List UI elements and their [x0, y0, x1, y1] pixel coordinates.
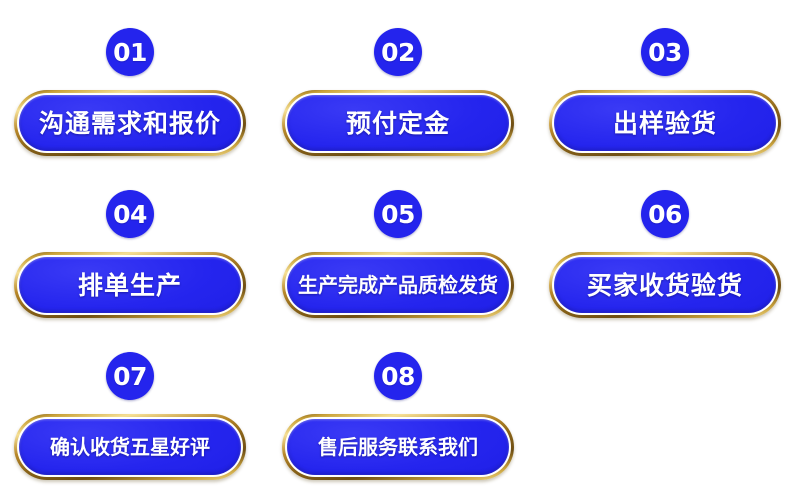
step-item-01[interactable]: 01 沟通需求和报价 — [14, 28, 246, 168]
step-pill-frame-05[interactable]: 生产完成产品质检发货 — [282, 252, 514, 318]
step-pill-frame-07[interactable]: 确认收货五星好评 — [14, 414, 246, 480]
step-number-badge-03: 03 — [641, 28, 689, 76]
step-pill-gap: 买家收货验货 — [552, 255, 778, 315]
step-number-badge-04: 04 — [106, 190, 154, 238]
step-item-07[interactable]: 07 确认收货五星好评 — [14, 352, 246, 492]
step-number-badge-07: 07 — [106, 352, 154, 400]
step-label-04: 排单生产 — [78, 273, 182, 298]
step-label-01: 沟通需求和报价 — [39, 111, 221, 136]
step-number-text: 01 — [113, 40, 147, 65]
step-pill-frame-06[interactable]: 买家收货验货 — [549, 252, 781, 318]
step-pill-02[interactable]: 预付定金 — [287, 95, 509, 151]
step-pill-06[interactable]: 买家收货验货 — [554, 257, 776, 313]
step-pill-gap: 出样验货 — [552, 93, 778, 153]
step-pill-frame-04[interactable]: 排单生产 — [14, 252, 246, 318]
step-pill-01[interactable]: 沟通需求和报价 — [19, 95, 241, 151]
step-item-05[interactable]: 05 生产完成产品质检发货 — [282, 190, 514, 330]
step-number-text: 05 — [381, 202, 415, 227]
step-pill-frame-02[interactable]: 预付定金 — [282, 90, 514, 156]
step-pill-gap: 确认收货五星好评 — [17, 417, 243, 477]
step-item-02[interactable]: 02 预付定金 — [282, 28, 514, 168]
step-label-06: 买家收货验货 — [587, 273, 743, 298]
step-item-06[interactable]: 06 买家收货验货 — [549, 190, 781, 330]
step-pill-frame-03[interactable]: 出样验货 — [549, 90, 781, 156]
step-pill-gap: 售后服务联系我们 — [285, 417, 511, 477]
step-pill-frame-01[interactable]: 沟通需求和报价 — [14, 90, 246, 156]
step-item-04[interactable]: 04 排单生产 — [14, 190, 246, 330]
step-pill-gap: 预付定金 — [285, 93, 511, 153]
step-number-badge-01: 01 — [106, 28, 154, 76]
step-number-badge-05: 05 — [374, 190, 422, 238]
step-item-08[interactable]: 08 售后服务联系我们 — [282, 352, 514, 492]
step-label-08: 售后服务联系我们 — [318, 437, 478, 457]
step-number-badge-08: 08 — [374, 352, 422, 400]
step-pill-07[interactable]: 确认收货五星好评 — [19, 419, 241, 475]
step-label-05: 生产完成产品质检发货 — [298, 275, 498, 295]
step-number-text: 03 — [648, 40, 682, 65]
step-number-text: 06 — [648, 202, 682, 227]
step-number-badge-06: 06 — [641, 190, 689, 238]
step-number-text: 07 — [113, 364, 147, 389]
step-number-badge-02: 02 — [374, 28, 422, 76]
step-pill-03[interactable]: 出样验货 — [554, 95, 776, 151]
step-label-07: 确认收货五星好评 — [50, 437, 210, 457]
step-number-text: 02 — [381, 40, 415, 65]
step-pill-gap: 沟通需求和报价 — [17, 93, 243, 153]
step-number-text: 08 — [381, 364, 415, 389]
step-pill-08[interactable]: 售后服务联系我们 — [287, 419, 509, 475]
step-label-02: 预付定金 — [346, 111, 450, 136]
step-item-03[interactable]: 03 出样验货 — [549, 28, 781, 168]
process-steps-board: 01 沟通需求和报价 02 预付定金 03 — [0, 0, 790, 497]
step-pill-04[interactable]: 排单生产 — [19, 257, 241, 313]
step-pill-gap: 生产完成产品质检发货 — [285, 255, 511, 315]
step-label-03: 出样验货 — [613, 111, 717, 136]
step-number-text: 04 — [113, 202, 147, 227]
step-pill-05[interactable]: 生产完成产品质检发货 — [287, 257, 509, 313]
step-pill-frame-08[interactable]: 售后服务联系我们 — [282, 414, 514, 480]
step-pill-gap: 排单生产 — [17, 255, 243, 315]
